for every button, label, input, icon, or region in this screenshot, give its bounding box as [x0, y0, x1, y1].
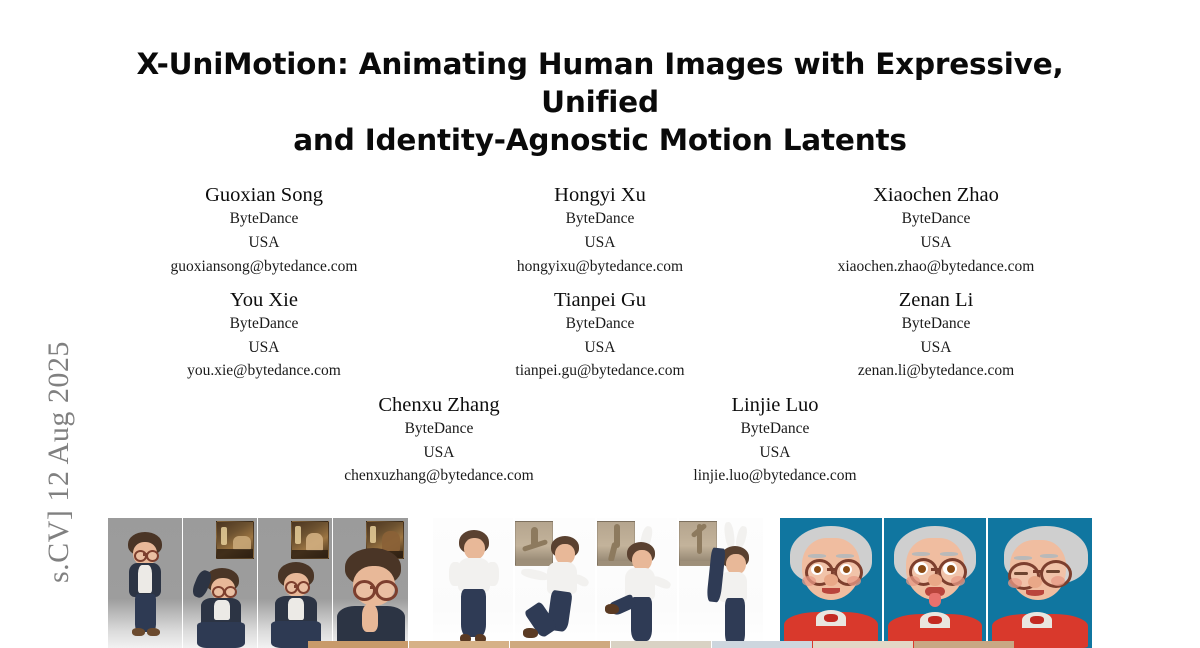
author-name: Guoxian Song	[96, 183, 432, 207]
teaser-panel	[914, 641, 1014, 648]
driving-thumbnail	[515, 521, 553, 566]
author-affiliation: ByteDance	[768, 207, 1104, 231]
teaser-panel	[597, 518, 677, 648]
author-affiliation: ByteDance	[96, 312, 432, 336]
title-line-1: X-UniMotion: Animating Human Images with…	[136, 47, 1063, 119]
teaser-panel	[308, 641, 408, 648]
author-country: USA	[96, 336, 432, 360]
author-country: USA	[768, 336, 1104, 360]
teaser-panel	[884, 518, 986, 648]
teaser-panel	[183, 518, 257, 648]
author-block: Chenxu Zhang ByteDance USA chenxuzhang@b…	[271, 393, 607, 498]
teaser-group-granny	[780, 518, 1092, 648]
author-country: USA	[607, 441, 943, 465]
author-affiliation: ByteDance	[607, 417, 943, 441]
author-name: Xiaochen Zhao	[768, 183, 1104, 207]
author-country: USA	[96, 231, 432, 255]
author-block: Linjie Luo ByteDance USA linjie.luo@byte…	[607, 393, 943, 498]
author-country: USA	[271, 441, 607, 465]
author-email[interactable]: zenan.li@bytedance.com	[768, 359, 1104, 383]
author-name: Tianpei Gu	[432, 288, 768, 312]
teaser-panel	[780, 518, 882, 648]
arxiv-stamp: s.CV] 12 Aug 2025	[37, 253, 81, 583]
author-block: Tianpei Gu ByteDance USA tianpei.gu@byte…	[432, 288, 768, 393]
teaser-group-boy	[108, 518, 408, 648]
title-line-2: and Identity-Agnostic Motion Latents	[96, 122, 1104, 160]
author-affiliation: ByteDance	[271, 417, 607, 441]
author-row: Chenxu Zhang ByteDance USA chenxuzhang@b…	[96, 393, 1104, 498]
teaser-panel	[712, 641, 812, 648]
author-block: Zenan Li ByteDance USA zenan.li@bytedanc…	[768, 288, 1104, 393]
author-country: USA	[432, 336, 768, 360]
teaser-panel	[510, 641, 610, 648]
teaser-panel	[988, 518, 1092, 648]
author-email[interactable]: linjie.luo@bytedance.com	[607, 464, 943, 488]
author-email[interactable]: guoxiansong@bytedance.com	[96, 255, 432, 279]
teaser-group-dancer	[433, 518, 763, 648]
teaser-panel	[409, 641, 509, 648]
author-email[interactable]: you.xie@bytedance.com	[96, 359, 432, 383]
author-row: Guoxian Song ByteDance USA guoxiansong@b…	[96, 183, 1104, 288]
page-title: X-UniMotion: Animating Human Images with…	[96, 0, 1104, 159]
author-block: You Xie ByteDance USA you.xie@bytedance.…	[96, 288, 432, 393]
author-affiliation: ByteDance	[432, 207, 768, 231]
author-list: Guoxian Song ByteDance USA guoxiansong@b…	[96, 183, 1104, 497]
teaser-figure	[108, 518, 1104, 648]
teaser-panel	[515, 518, 595, 648]
driving-thumbnail	[216, 521, 254, 559]
teaser-panel	[611, 641, 711, 648]
teaser-figure-row-2	[108, 641, 1104, 648]
author-name: Chenxu Zhang	[271, 393, 607, 417]
author-name: You Xie	[96, 288, 432, 312]
author-name: Hongyi Xu	[432, 183, 768, 207]
author-name: Linjie Luo	[607, 393, 943, 417]
author-block: Xiaochen Zhao ByteDance USA xiaochen.zha…	[768, 183, 1104, 288]
teaser-panel	[258, 518, 332, 648]
author-email[interactable]: hongyixu@bytedance.com	[432, 255, 768, 279]
author-row: You Xie ByteDance USA you.xie@bytedance.…	[96, 288, 1104, 393]
teaser-panel	[333, 518, 408, 648]
teaser-panel	[108, 518, 182, 648]
driving-thumbnail	[291, 521, 329, 559]
teaser-panel	[679, 518, 763, 648]
author-affiliation: ByteDance	[432, 312, 768, 336]
author-country: USA	[768, 231, 1104, 255]
author-email[interactable]: chenxuzhang@bytedance.com	[271, 464, 607, 488]
teaser-panel	[813, 641, 913, 648]
author-block: Hongyi Xu ByteDance USA hongyixu@bytedan…	[432, 183, 768, 288]
author-email[interactable]: xiaochen.zhao@bytedance.com	[768, 255, 1104, 279]
author-affiliation: ByteDance	[768, 312, 1104, 336]
paper-page: X-UniMotion: Animating Human Images with…	[96, 0, 1104, 648]
teaser-panel	[433, 518, 513, 648]
author-affiliation: ByteDance	[96, 207, 432, 231]
author-name: Zenan Li	[768, 288, 1104, 312]
author-block: Guoxian Song ByteDance USA guoxiansong@b…	[96, 183, 432, 288]
author-email[interactable]: tianpei.gu@bytedance.com	[432, 359, 768, 383]
author-country: USA	[432, 231, 768, 255]
